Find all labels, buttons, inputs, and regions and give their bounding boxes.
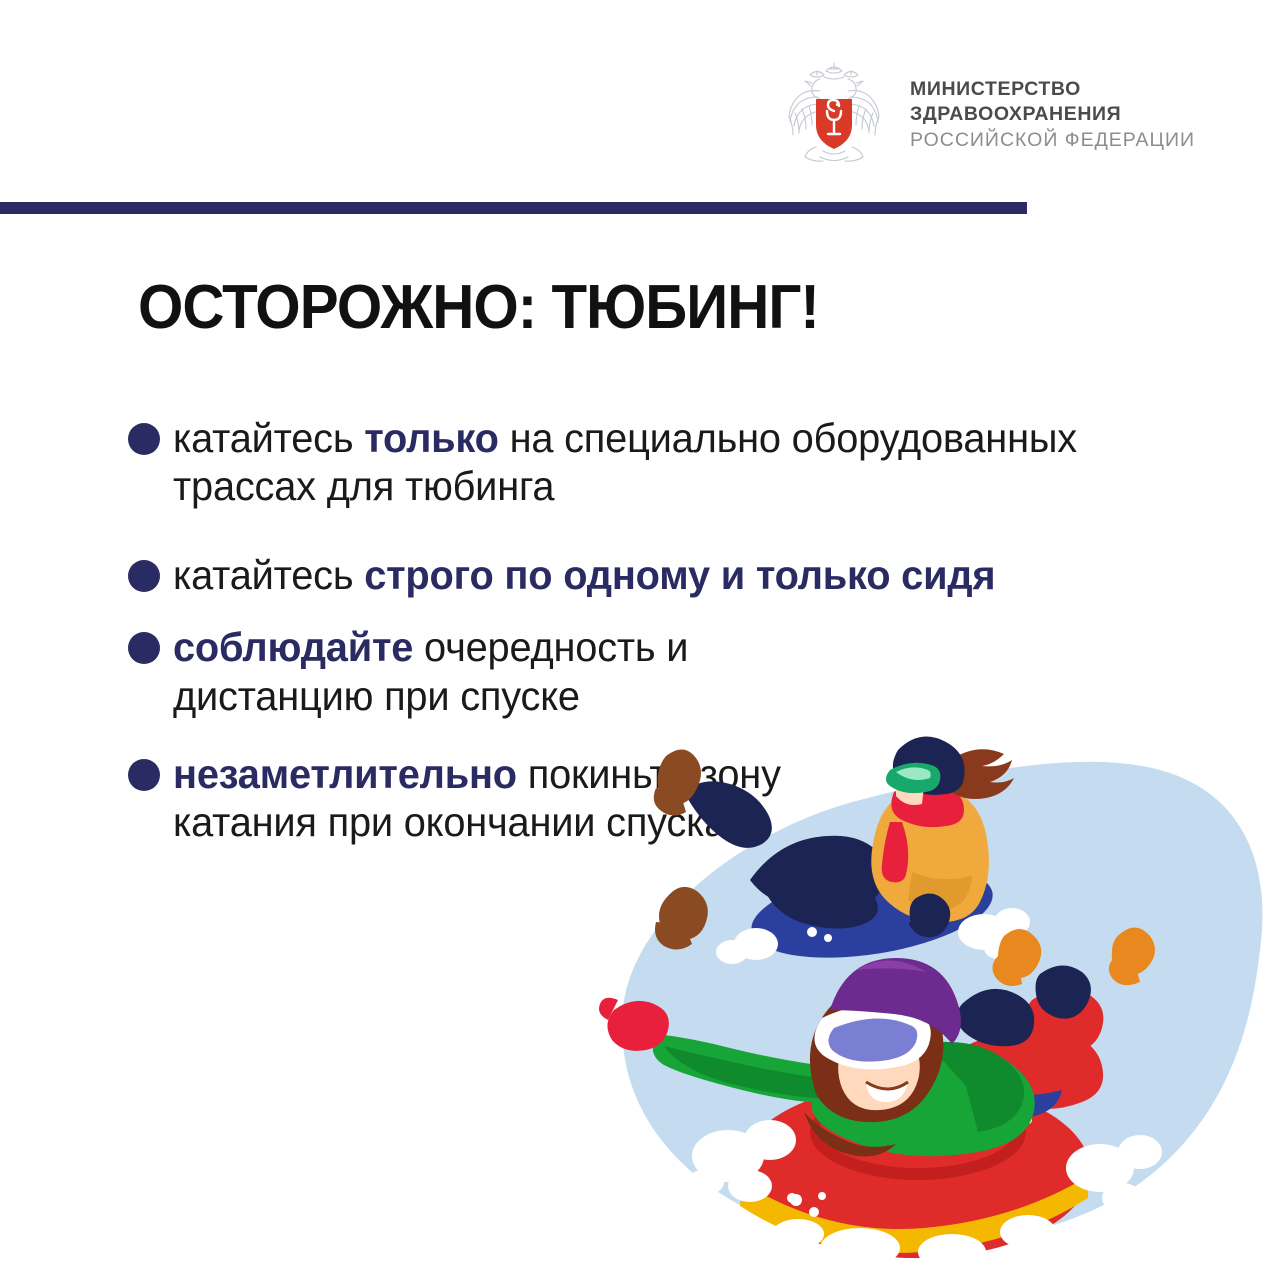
bullet-1-emphasis: только bbox=[364, 415, 498, 461]
page-title: ОСТОРОЖНО: ТЮБИНГ! bbox=[138, 272, 819, 343]
bullet-2-pre: катайтесь bbox=[173, 552, 364, 598]
ministry-logo-text: МИНИСТЕРСТВО ЗДРАВООХРАНЕНИЯ РОССИЙСКОЙ … bbox=[910, 73, 1195, 153]
bullet-1-pre: катайтесь bbox=[173, 415, 364, 461]
list-item-text: катайтесь строго по одному и только сидя bbox=[173, 551, 995, 599]
bullet-dot-icon bbox=[128, 632, 160, 664]
bullet-dot-icon bbox=[128, 759, 160, 791]
bullet-dot-icon bbox=[128, 560, 160, 592]
org-line-2: ЗДРАВООХРАНЕНИЯ bbox=[910, 102, 1195, 127]
bullet-3-emphasis: соблюдайте bbox=[173, 624, 413, 670]
list-item: катайтесь только на специально оборудова… bbox=[128, 414, 1248, 511]
lower-rider-mitten bbox=[607, 1001, 668, 1051]
two-people-snow-tubing-illustration bbox=[560, 700, 1280, 1270]
navy-divider-rule bbox=[0, 202, 1027, 214]
org-line-3: РОССИЙСКОЙ ФЕДЕРАЦИИ bbox=[910, 128, 1195, 153]
ministry-logo: МИНИСТЕРСТВО ЗДРАВООХРАНЕНИЯ РОССИЙСКОЙ … bbox=[780, 58, 1220, 168]
org-line-1: МИНИСТЕРСТВО bbox=[910, 77, 1195, 102]
list-item-text: катайтесь только на специально оборудова… bbox=[173, 414, 1216, 511]
bullet-dot-icon bbox=[128, 423, 160, 455]
ministry-of-health-emblem-icon bbox=[780, 59, 888, 167]
bullet-2-emphasis: строго по одному и только сидя bbox=[364, 552, 995, 598]
bullet-4-emphasis: незаметлительно bbox=[173, 751, 517, 797]
list-item: катайтесь строго по одному и только сидя bbox=[128, 551, 1248, 599]
